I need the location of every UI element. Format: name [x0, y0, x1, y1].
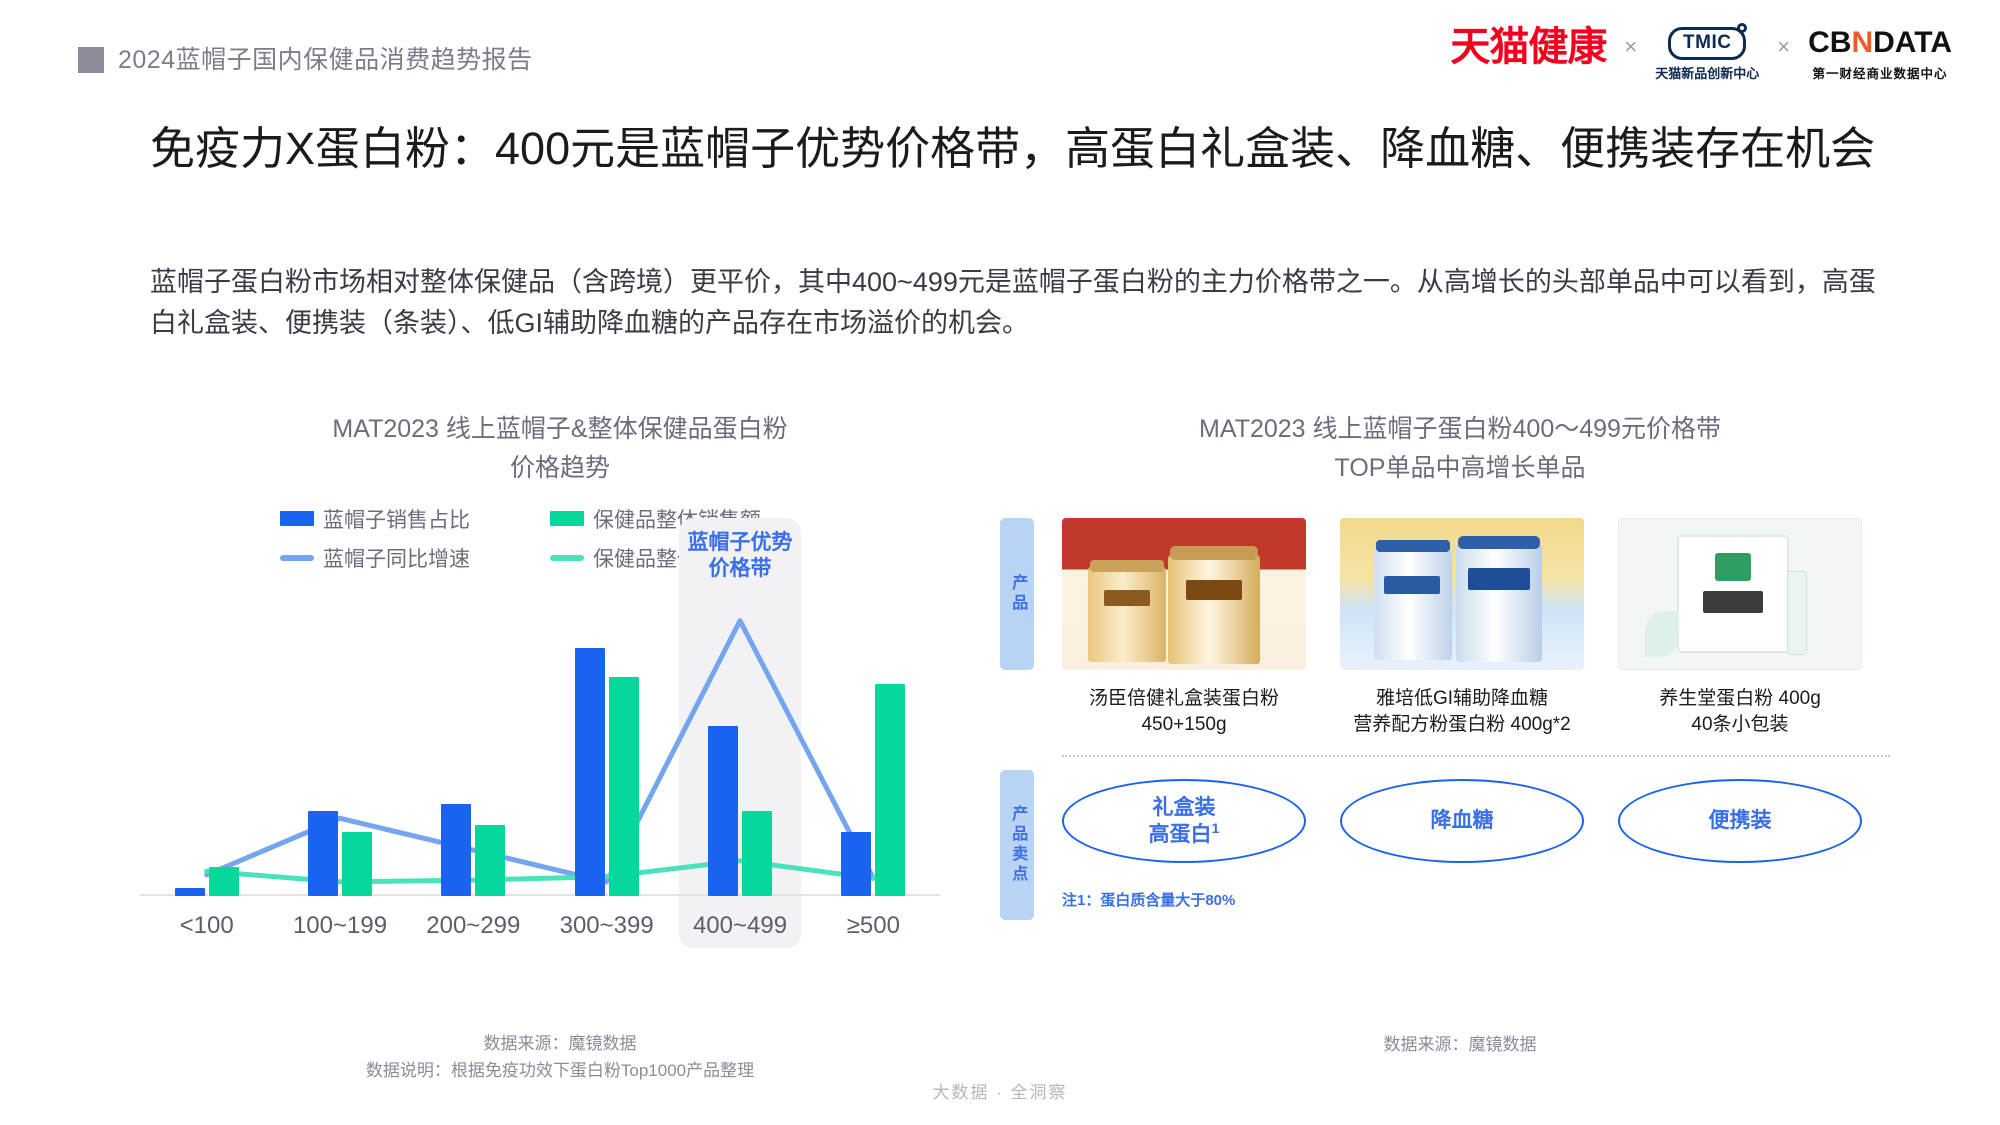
chart-x-axis: [140, 894, 940, 896]
header-square-marker: [78, 47, 104, 73]
product-can-right-icon: [1168, 554, 1260, 664]
cbndata-wordmark: CBNDATA: [1808, 26, 1952, 60]
legend-swatch-bar-green: [550, 511, 584, 526]
price-trend-chart: MAT2023 线上蓝帽子&整体保健品蛋白粉 价格趋势 蓝帽子销售占比 保健品整…: [140, 410, 980, 1010]
chart-x-labels: <100100~199200~299300~399400~499≥500: [140, 912, 940, 948]
cbndata-subtitle: 第一财经商业数据中心: [1813, 63, 1948, 82]
product-can-b-icon: [1456, 544, 1542, 662]
selling-point-1-line1: 降血糖: [1431, 808, 1494, 834]
cbndata-data: DATA: [1873, 26, 1952, 59]
legend-swatch-bar-blue: [280, 511, 314, 526]
chart-bar-1-5: [875, 684, 905, 896]
chart-bar-0-1: [308, 811, 338, 896]
products-title-line1: MAT2023 线上蓝帽子蛋白粉400～499元价格带: [1000, 410, 1920, 449]
product-box-label-icon: [1703, 591, 1763, 613]
selling-point-0-text: 高蛋白: [1149, 823, 1212, 846]
product-box-seal-icon: [1715, 553, 1751, 581]
header-title: 2024蓝帽子国内保健品消费趋势报告: [118, 40, 533, 76]
product-can-b-label-icon: [1468, 568, 1530, 590]
products-title-line2: TOP单品中高增长单品: [1000, 449, 1920, 488]
chart-bar-1-3: [609, 677, 639, 896]
tab-product-label: 产品: [1000, 518, 1034, 670]
chart-title: MAT2023 线上蓝帽子&整体保健品蛋白粉: [140, 410, 980, 449]
legend-item-blue-line: 蓝帽子同比增速: [280, 543, 550, 573]
product-image-2: [1618, 518, 1862, 670]
legend-row-1: 蓝帽子销售占比 保健品整体销售额: [140, 504, 980, 534]
product-name-1-line2: 营养配方粉蛋白粉 400g*2: [1340, 712, 1584, 739]
top-products-panel: MAT2023 线上蓝帽子蛋白粉400～499元价格带 TOP单品中高增长单品 …: [1000, 410, 1920, 910]
logo-separator-x-icon: ×: [1624, 34, 1637, 74]
selling-point-2-line1: 便携装: [1709, 808, 1772, 834]
legend-swatch-line-blue: [280, 555, 314, 561]
selling-point-2[interactable]: 便携装: [1618, 779, 1862, 863]
chart-source-block: 数据来源：魔镜数据 数据说明：根据免疫功效下蛋白粉Top1000产品整理: [140, 1030, 980, 1084]
product-can-b-lid-icon: [1458, 536, 1540, 549]
chart-bar-0-4: [708, 726, 738, 895]
products-divider: [1062, 755, 1890, 757]
slide-footer: 大数据 · 全洞察: [0, 1078, 2000, 1103]
product-name-2-line1: 养生堂蛋白粉 400g: [1618, 686, 1862, 713]
tmic-badge: TMIC: [1668, 27, 1746, 60]
chart-legend: 蓝帽子销售占比 保健品整体销售额 蓝帽子同比增速 保健品整体同比增速: [140, 504, 980, 582]
selling-point-0-line1: 礼盒装: [1149, 795, 1220, 821]
selling-points: 礼盒装 高蛋白1 降血糖 便携装: [1062, 779, 1920, 863]
chart-line-layer: [140, 596, 940, 896]
selling-point-0-line2: 高蛋白1: [1149, 821, 1220, 848]
product-can-a-label-icon: [1384, 576, 1440, 594]
product-can-lid-right-icon: [1170, 546, 1258, 560]
chart-x-label-0: <100: [140, 912, 273, 940]
chart-bar-1-2: [475, 825, 505, 896]
product-can-a-icon: [1374, 548, 1452, 660]
header: 2024蓝帽子国内保健品消费趋势报告 天猫健康 × TMIC 天猫新品创新中心 …: [0, 0, 2000, 105]
cbndata-n: N: [1851, 26, 1873, 59]
chart-line-2: [207, 620, 874, 881]
products-footnote: 注1：蛋白质含量大于80%: [1062, 889, 1920, 910]
product-sachet-icon: [1787, 571, 1807, 655]
logo-group: 天猫健康 × TMIC 天猫新品创新中心 × CBNDATA 第一财经商业数据中…: [1450, 26, 1952, 82]
product-can-label2-icon: [1104, 590, 1150, 606]
chart-x-label-1: 100~199: [273, 912, 406, 940]
chart-bar-1-0: [209, 867, 239, 895]
product-can-label-icon: [1186, 580, 1242, 600]
chart-bar-0-3: [575, 648, 605, 895]
product-cards: 汤臣倍健礼盒装蛋白粉 450+150g 雅培低GI辅助: [1062, 518, 1920, 740]
logo-separator-x2-icon: ×: [1777, 34, 1790, 74]
tmall-health-logo: 天猫健康: [1450, 27, 1606, 81]
page-title: 免疫力X蛋白粉：400元是蓝帽子优势价格带，高蛋白礼盒装、降血糖、便携装存在机会: [150, 120, 1890, 178]
selling-point-0-sup: 1: [1212, 821, 1220, 837]
products-grid: 产品 汤臣倍健礼盒装蛋白粉 450+150g: [1000, 518, 1920, 911]
cbndata-logo: CBNDATA 第一财经商业数据中心: [1808, 26, 1952, 82]
legend-label-2: 蓝帽子同比增速: [323, 543, 470, 573]
product-name-2: 养生堂蛋白粉 400g 40条小包装: [1618, 686, 1862, 740]
chart-subtitle: 价格趋势: [140, 449, 980, 488]
chart-x-label-2: 200~299: [407, 912, 540, 940]
product-can-left-icon: [1088, 566, 1166, 662]
cbndata-cb: CB: [1808, 26, 1851, 59]
chart-x-label-3: 300~399: [540, 912, 673, 940]
page-summary: 蓝帽子蛋白粉市场相对整体保健品（含跨境）更平价，其中400~499元是蓝帽子蛋白…: [150, 262, 1880, 344]
tmic-subtitle: 天猫新品创新中心: [1655, 63, 1759, 82]
highlight-band-label-line2: 价格带: [679, 556, 800, 582]
selling-point-1[interactable]: 降血糖: [1340, 779, 1584, 863]
highlight-band-label-line1: 蓝帽子优势: [679, 530, 800, 556]
product-name-0-line1: 汤臣倍健礼盒装蛋白粉: [1062, 686, 1306, 713]
product-name-1: 雅培低GI辅助降血糖 营养配方粉蛋白粉 400g*2: [1340, 686, 1584, 740]
products-source: 数据来源：魔镜数据: [1000, 1030, 1920, 1055]
chart-bar-1-1: [342, 832, 372, 896]
tmic-badge-text: TMIC: [1683, 32, 1731, 53]
chart-bar-0-5: [841, 832, 871, 896]
product-name-0-line2: 450+150g: [1062, 712, 1306, 739]
highlight-band-label: 蓝帽子优势 价格带: [679, 530, 800, 583]
chart-bar-0-0: [175, 888, 205, 895]
legend-row-2: 蓝帽子同比增速 保健品整体同比增速: [140, 543, 980, 573]
chart-x-label-5: ≥500: [807, 912, 940, 940]
slide-root: 2024蓝帽子国内保健品消费趋势报告 天猫健康 × TMIC 天猫新品创新中心 …: [0, 0, 2000, 1125]
legend-item-blue-bar: 蓝帽子销售占比: [280, 504, 550, 534]
selling-point-0[interactable]: 礼盒装 高蛋白1: [1062, 779, 1306, 863]
tab-selling-point-label: 产品卖点: [1000, 770, 1034, 920]
product-card-1[interactable]: 雅培低GI辅助降血糖 营养配方粉蛋白粉 400g*2: [1340, 518, 1584, 740]
tmic-logo: TMIC 天猫新品创新中心: [1655, 27, 1759, 82]
product-name-2-line2: 40条小包装: [1618, 712, 1862, 739]
product-can-lid-left-icon: [1090, 560, 1164, 572]
chart-plot-area: 蓝帽子优势 价格带: [140, 596, 940, 896]
product-can-a-lid-icon: [1376, 540, 1450, 552]
chart-bar-1-4: [742, 811, 772, 896]
chart-bar-0-2: [441, 804, 471, 896]
product-name-1-line1: 雅培低GI辅助降血糖: [1340, 686, 1584, 713]
legend-label-0: 蓝帽子销售占比: [323, 504, 470, 534]
chart-source: 数据来源：魔镜数据: [140, 1030, 980, 1057]
product-card-0[interactable]: 汤臣倍健礼盒装蛋白粉 450+150g: [1062, 518, 1306, 740]
legend-swatch-line-green: [550, 555, 584, 561]
product-name-0: 汤臣倍健礼盒装蛋白粉 450+150g: [1062, 686, 1306, 740]
product-leaf-icon: [1645, 611, 1679, 657]
chart-x-label-4: 400~499: [673, 912, 806, 940]
product-image-1: [1340, 518, 1584, 670]
product-card-2[interactable]: 养生堂蛋白粉 400g 40条小包装: [1618, 518, 1862, 740]
tmic-ear-icon: [1737, 23, 1747, 33]
product-image-0: [1062, 518, 1306, 670]
